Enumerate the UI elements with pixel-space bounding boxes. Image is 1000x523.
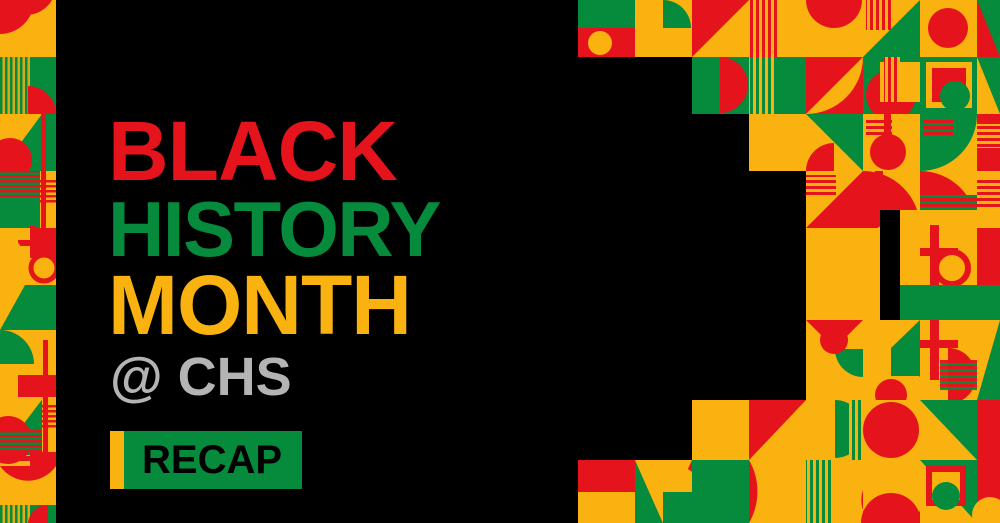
recap-badge-box: RECAP [124,431,302,489]
subtitle-at-chs: @ CHS [110,350,292,404]
recap-accent-bar [110,431,124,489]
black-history-month-poster: BLACK HISTORY MONTH @ CHS RECAP [0,0,1000,523]
headline-block: BLACK HISTORY MONTH [108,112,538,346]
left-pattern-svg [0,0,56,523]
headline-line-history: HISTORY [108,192,538,266]
recap-label: RECAP [142,440,282,480]
recap-badge: RECAP [110,431,302,489]
pattern-tiles [560,0,1000,523]
left-geometric-pattern-strip [0,0,56,523]
headline-line-month: MONTH [108,266,538,346]
headline-line-black: BLACK [108,112,538,192]
